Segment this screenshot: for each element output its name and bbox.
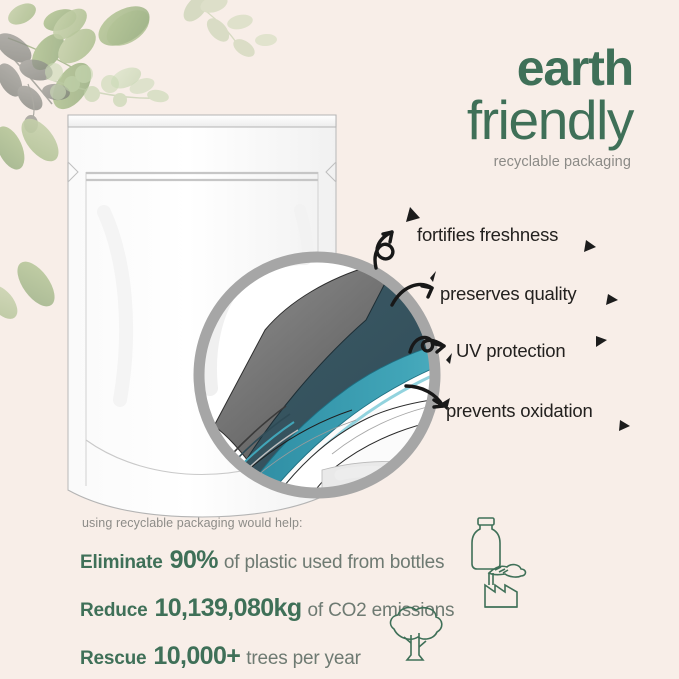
tree-icon — [380, 603, 450, 665]
stat-value: 90% — [170, 546, 218, 575]
stat-verb: Rescue — [80, 648, 146, 670]
stat-value: 10,000+ — [153, 642, 240, 671]
feature-label-fortifies-freshness: fortifies freshness — [417, 224, 558, 246]
stat-row-rescue: Rescue 10,000+ trees per year — [80, 642, 550, 671]
stat-verb: Eliminate — [80, 552, 163, 574]
feature-label-prevents-oxidation: prevents oxidation — [446, 400, 593, 422]
feature-label-uv-protection: UV protection — [456, 340, 565, 362]
poster-canvas: earth friendly recyclable packaging fort… — [0, 0, 679, 679]
stat-tail: trees per year — [246, 648, 360, 670]
feature-label-preserves-quality: preserves quality — [440, 283, 576, 305]
stat-tail: of plastic used from bottles — [224, 552, 444, 574]
stat-value: 10,139,080kg — [154, 594, 301, 623]
stat-verb: Reduce — [80, 600, 147, 622]
factory-icon — [477, 559, 529, 609]
